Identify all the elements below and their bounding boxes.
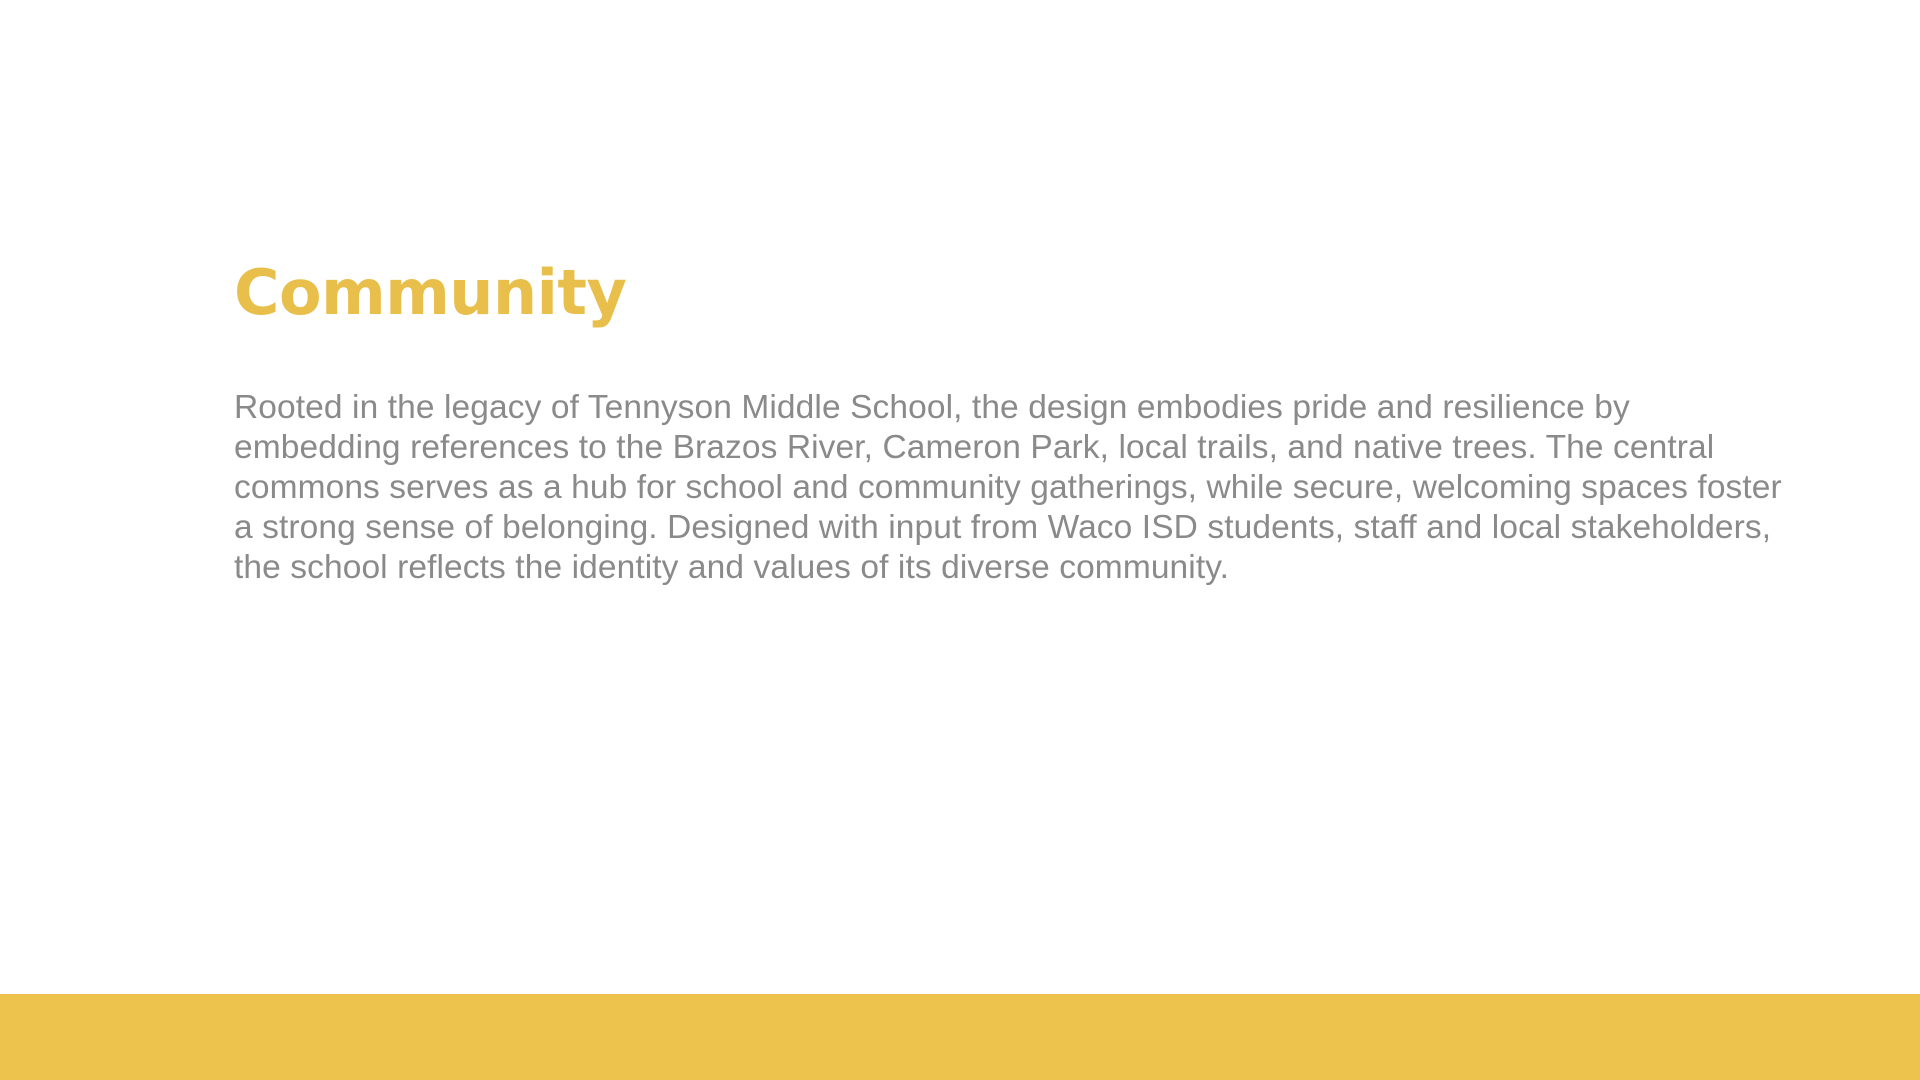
footer-accent-bar bbox=[0, 994, 1920, 1080]
body-paragraph: Rooted in the legacy of Tennyson Middle … bbox=[234, 388, 1792, 588]
slide-content-block: Community Rooted in the legacy of Tennys… bbox=[234, 262, 1804, 588]
page-title: Community bbox=[234, 262, 1804, 324]
presentation-slide: Community Rooted in the legacy of Tennys… bbox=[0, 0, 1920, 1080]
